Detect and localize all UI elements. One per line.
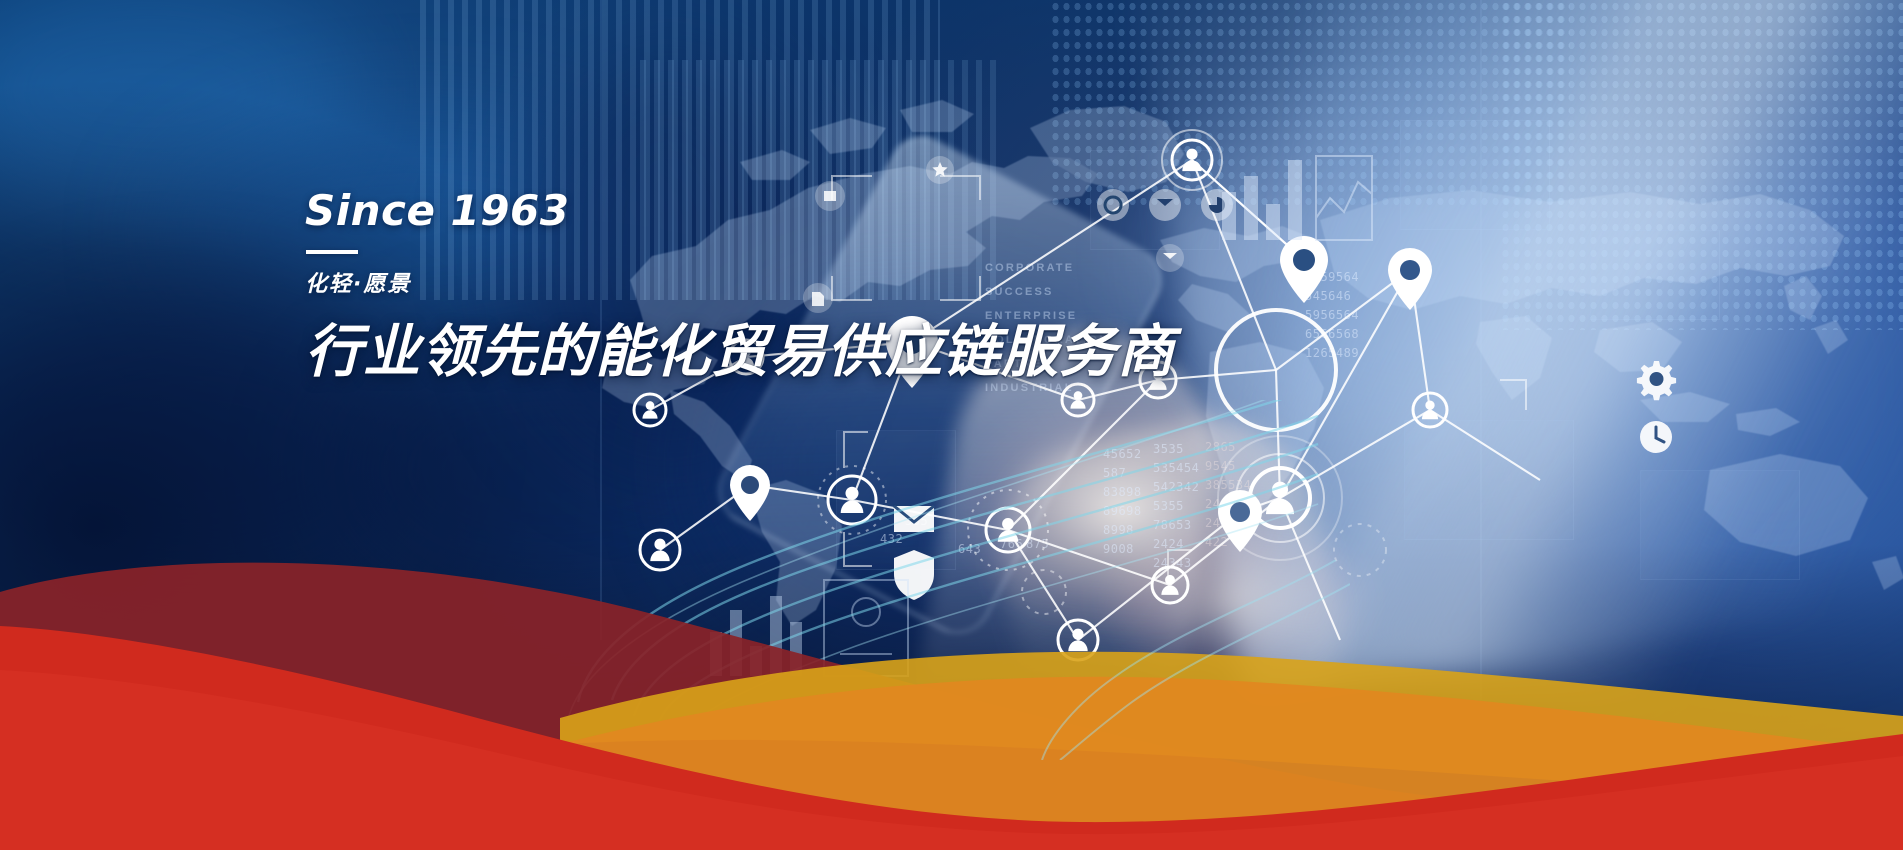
subtitle: 化轻·愿景 (305, 266, 1255, 298)
hero-banner: CORPORATE SUCCESS ENTERPRISE COLLABORATI… (0, 0, 1903, 850)
icon-gear-clock (1632, 355, 1682, 475)
since-label: Since 1963 (305, 190, 1255, 232)
hero-text-block: Since 1963 化轻·愿景 行业领先的能化贸易供应链服务商 (305, 190, 1255, 388)
page-title: 行业领先的能化贸易供应链服务商 (305, 306, 1255, 388)
divider-rule (306, 250, 358, 254)
wave-decoration (0, 520, 1903, 850)
